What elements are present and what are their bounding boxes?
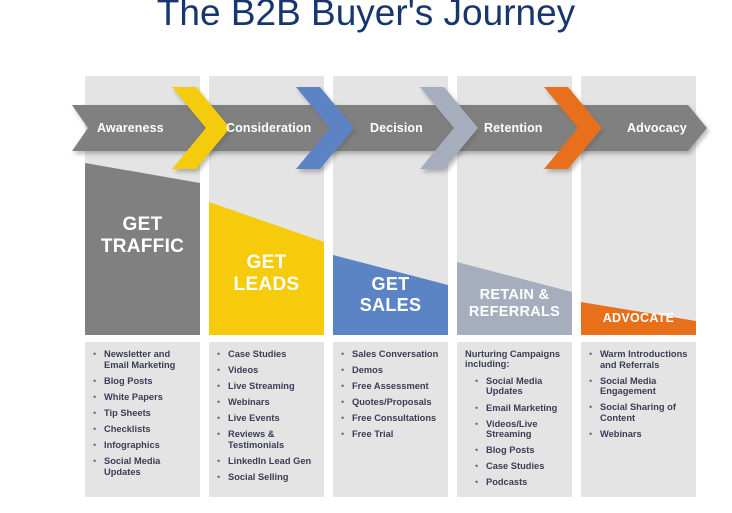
page-title: The B2B Buyer's Journey <box>0 0 732 34</box>
list-item: •Blog Posts <box>93 376 194 387</box>
infographic-canvas: The B2B Buyer's Journey GET TRAFFIC GET … <box>0 0 732 513</box>
bullet-icon: • <box>217 472 228 482</box>
list-item-label: Free Trial <box>352 429 442 440</box>
bullet-icon: • <box>217 349 228 359</box>
bullet-icon: • <box>93 392 104 402</box>
list-item-label: Live Streaming <box>228 381 318 392</box>
bullet-icon: • <box>93 408 104 418</box>
bullet-icon: • <box>475 445 486 455</box>
list-item: •Videos <box>217 365 318 376</box>
bullet-icon: • <box>341 397 352 407</box>
bullet-icon: • <box>341 349 352 359</box>
arrow-label-consideration[interactable]: Consideration <box>226 121 311 135</box>
list-item-label: Free Assessment <box>352 381 442 392</box>
bullet-icon: • <box>341 381 352 391</box>
list-item: •Live Streaming <box>217 381 318 392</box>
list-item-label: LinkedIn Lead Gen <box>228 456 318 467</box>
bullet-icon: • <box>217 456 228 466</box>
list-item: •Reviews & Testimonials <box>217 429 318 450</box>
bullet-icon: • <box>475 419 486 429</box>
bullet-list-awareness: •Newsletter and Email Marketing•Blog Pos… <box>93 349 194 483</box>
list-item: •Warm Introductions and Referrals <box>589 349 692 370</box>
list-item-label: Podcasts <box>486 477 568 488</box>
funnel-label-retention: RETAIN & REFERRALS <box>457 287 572 321</box>
bullet-list-advocacy: •Warm Introductions and Referrals•Social… <box>589 349 692 445</box>
list-item-label: Case Studies <box>228 349 318 360</box>
bullet-icon: • <box>589 349 600 359</box>
bullet-icon: • <box>93 440 104 450</box>
list-item: •Podcasts <box>475 477 568 488</box>
bullet-icon: • <box>217 381 228 391</box>
bullet-icon: • <box>475 403 486 413</box>
list-item: •Free Consultations <box>341 413 442 424</box>
list-item-label: Checklists <box>104 424 194 435</box>
list-item: •Webinars <box>217 397 318 408</box>
funnel-slab-advocacy <box>581 160 696 335</box>
bullet-icon: • <box>93 349 104 359</box>
list-item-label: Videos/Live Streaming <box>486 419 568 440</box>
list-item-label: Webinars <box>600 429 692 440</box>
list-item-label: Warm Introductions and Referrals <box>600 349 692 370</box>
list-item: •Social Media Updates <box>93 456 194 477</box>
list-item: •Live Events <box>217 413 318 424</box>
list-item-label: Tip Sheets <box>104 408 194 419</box>
list-item-label: Demos <box>352 365 442 376</box>
list-item: •White Papers <box>93 392 194 403</box>
list-item-label: Webinars <box>228 397 318 408</box>
list-item-label: Reviews & Testimonials <box>228 429 318 450</box>
arrow-label-awareness[interactable]: Awareness <box>97 121 164 135</box>
list-item: •Infographics <box>93 440 194 451</box>
list-item: •Free Assessment <box>341 381 442 392</box>
list-item-label: Infographics <box>104 440 194 451</box>
bullet-icon: • <box>589 429 600 439</box>
bullet-icon: • <box>93 424 104 434</box>
list-item: •Blog Posts <box>475 445 568 456</box>
list-item: •Social Media Engagement <box>589 376 692 397</box>
funnel-label-awareness: GET TRAFFIC <box>85 214 200 258</box>
list-item: •Quotes/Proposals <box>341 397 442 408</box>
list-item: •Social Selling <box>217 472 318 483</box>
list-item: •Social Sharing of Content <box>589 402 692 423</box>
list-item-label: Social Media Updates <box>486 376 568 397</box>
list-item: •Demos <box>341 365 442 376</box>
list-item-label: Newsletter and Email Marketing <box>104 349 194 370</box>
bullet-icon: • <box>475 477 486 487</box>
bullet-icon: • <box>589 402 600 412</box>
list-item-label: Case Studies <box>486 461 568 472</box>
bullet-icon: • <box>93 456 104 466</box>
list-item: •Social Media Updates <box>475 376 568 397</box>
list-item: •Checklists <box>93 424 194 435</box>
bullet-icon: • <box>341 429 352 439</box>
list-item: •Sales Conversation <box>341 349 442 360</box>
funnel-label-consideration: GET LEADS <box>209 252 324 296</box>
list-item-label: White Papers <box>104 392 194 403</box>
bullet-icon: • <box>93 376 104 386</box>
list-item: •Videos/Live Streaming <box>475 419 568 440</box>
arrow-label-advocacy[interactable]: Advocacy <box>627 121 687 135</box>
bullet-list-consideration: •Case Studies•Videos•Live Streaming•Webi… <box>217 349 318 488</box>
list-item-label: Blog Posts <box>486 445 568 456</box>
funnel-slab-consideration <box>209 160 324 335</box>
bullet-icon: • <box>341 413 352 423</box>
arrow-label-retention[interactable]: Retention <box>484 121 543 135</box>
list-item: •Webinars <box>589 429 692 440</box>
list-item: •LinkedIn Lead Gen <box>217 456 318 467</box>
bullet-icon: • <box>475 376 486 386</box>
arrow-label-decision[interactable]: Decision <box>370 121 423 135</box>
bullet-list-decision: •Sales Conversation•Demos•Free Assessmen… <box>341 349 442 446</box>
list-item-label: Social Media Engagement <box>600 376 692 397</box>
bullet-icon: • <box>217 429 228 439</box>
list-item-label: Social Selling <box>228 472 318 483</box>
list-item-label: Social Media Updates <box>104 456 194 477</box>
list-item-label: Blog Posts <box>104 376 194 387</box>
list-item: •Email Marketing <box>475 403 568 414</box>
bullet-icon: • <box>217 365 228 375</box>
bullet-icon: • <box>217 397 228 407</box>
list-item-label: Free Consultations <box>352 413 442 424</box>
bullet-icon: • <box>589 376 600 386</box>
list-item: •Newsletter and Email Marketing <box>93 349 194 370</box>
bullet-icon: • <box>341 365 352 375</box>
list-item: •Free Trial <box>341 429 442 440</box>
list-item-label: Videos <box>228 365 318 376</box>
list-item-label: Live Events <box>228 413 318 424</box>
list-item: •Case Studies <box>475 461 568 472</box>
list-item-label: Quotes/Proposals <box>352 397 442 408</box>
bullet-icon: • <box>475 461 486 471</box>
list-item: •Case Studies <box>217 349 318 360</box>
funnel-label-advocacy: ADVOCATE <box>581 311 696 326</box>
list-item: •Tip Sheets <box>93 408 194 419</box>
list-item-label: Sales Conversation <box>352 349 442 360</box>
bullet-list-header: Nurturing Campaigns including: <box>465 349 568 370</box>
list-item-label: Social Sharing of Content <box>600 402 692 423</box>
bullet-icon: • <box>217 413 228 423</box>
list-item-label: Email Marketing <box>486 403 568 414</box>
bullet-list-retention: Nurturing Campaigns including:•Social Me… <box>465 349 568 494</box>
funnel-label-decision: GET SALES <box>333 274 448 316</box>
